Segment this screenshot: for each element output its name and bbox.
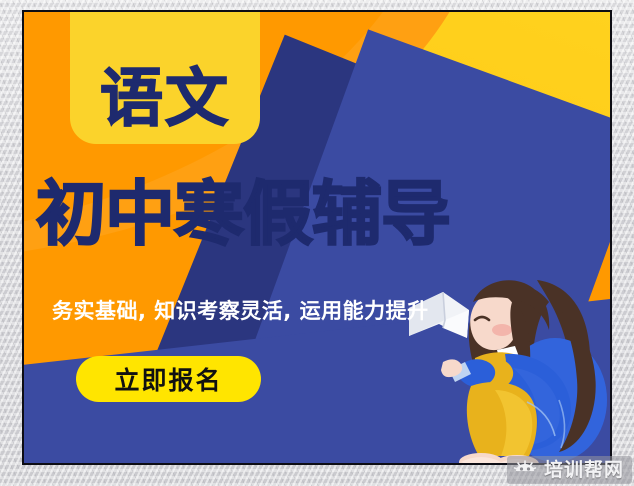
poster-subtitle: 务实基础, 知识考察灵活, 运用能力提升 — [52, 295, 429, 325]
sun-face-icon — [513, 460, 537, 480]
poster-headline: 初中寒假辅导 — [36, 179, 576, 249]
course-promo-poster: 语文 初中寒假辅导 务实基础, 知识考察灵活, 运用能力提升 立即报名 — [22, 10, 612, 465]
subject-badge-label: 语文 — [100, 67, 230, 130]
girl-reading-book-illustration — [409, 250, 612, 465]
watermark: 培训帮网 — [507, 456, 632, 484]
subject-badge: 语文 — [70, 10, 260, 144]
watermark-label: 培训帮网 — [544, 461, 624, 480]
screenshot-root: 语文 初中寒假辅导 务实基础, 知识考察灵活, 运用能力提升 立即报名 培训帮网 — [0, 0, 634, 486]
enroll-now-label: 立即报名 — [114, 361, 222, 397]
enroll-now-button[interactable]: 立即报名 — [76, 356, 261, 402]
